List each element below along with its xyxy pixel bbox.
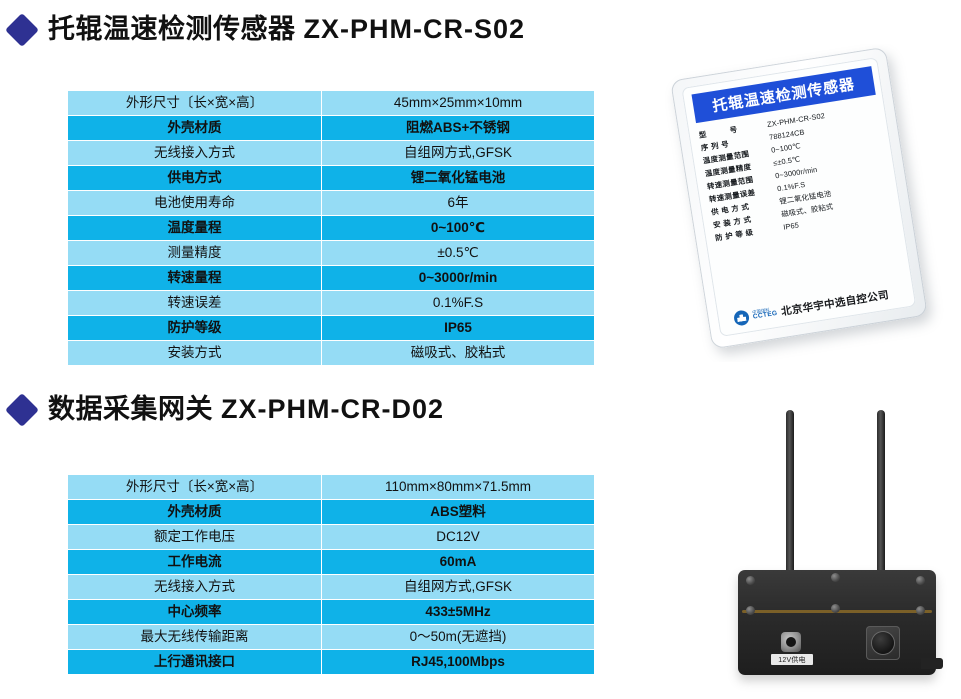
antenna-right [877,410,885,580]
table-row: 最大无线传输距离 0～50m(无遮挡) [68,625,594,649]
table-row: 中心频率 433±5MHz [68,600,594,624]
spec-label: 供电方式 [68,166,321,190]
sensor-spec-value: IP65 [783,220,800,231]
spec-value: ABS塑料 [322,500,594,524]
table-row: 转速量程 0~3000r/min [68,266,594,290]
spec-value: 110mm×80mm×71.5mm [322,475,594,499]
spec-label: 测量精度 [68,241,321,265]
table-row: 工作电流 60mA [68,550,594,574]
diamond-icon [5,393,39,427]
spec-table-sensor: 外形尺寸〔长×宽×高〕 45mm×25mm×10mm 外壳材质 阻燃ABS+不锈… [68,91,594,366]
spec-table-gateway: 外形尺寸〔长×宽×高〕 110mm×80mm×71.5mm 外壳材质 ABS塑料… [68,475,594,675]
ccteg-logo-icon [733,309,750,326]
sensor-label-specs: 型 号 ZX-PHM-CR-S02 序 列 号 788124CB 温度测量范围 … [698,102,903,300]
spec-value: 锂二氧化锰电池 [322,166,594,190]
sensor-spec-value: ≤±0.5℃ [773,154,801,167]
gateway-device-case: 12V供电 [738,570,936,675]
sensor-device-body: 托辊温速检测传感器 型 号 ZX-PHM-CR-S02 序 列 号 788124… [670,47,928,350]
table-row: 外壳材质 ABS塑料 [68,500,594,524]
screw-icon [746,576,755,585]
table-row: 无线接入方式 自组网方式,GFSK [68,575,594,599]
ccteg-logo-en: CCTEG [753,311,778,321]
spec-value: IP65 [322,316,594,340]
table-row: 外形尺寸〔长×宽×高〕 45mm×25mm×10mm [68,91,594,115]
spec-label: 外形尺寸〔长×宽×高〕 [68,91,321,115]
spec-value: 0~100℃ [322,216,594,240]
table-row: 无线接入方式 自组网方式,GFSK [68,141,594,165]
section-heading-gateway: 数据采集网关 ZX-PHM-CR-D02 [10,396,444,423]
spec-value: ±0.5℃ [322,241,594,265]
screw-icon [916,606,925,615]
spec-label: 中心频率 [68,600,321,624]
spec-value: 自组网方式,GFSK [322,575,594,599]
spec-value: 磁吸式、胶粘式 [322,341,594,365]
spec-value: 0～50m(无遮挡) [322,625,594,649]
spec-label: 温度量程 [68,216,321,240]
aviation-connector [866,626,900,660]
spec-label: 外形尺寸〔长×宽×高〕 [68,475,321,499]
spec-label: 外壳材质 [68,500,321,524]
spec-value: 45mm×25mm×10mm [322,91,594,115]
table-row: 安装方式 磁吸式、胶粘式 [68,341,594,365]
sensor-company-name: 北京华宇中选自控公司 [780,287,890,319]
table-row: 上行通讯接口 RJ45,100Mbps [68,650,594,674]
gateway-product-photo: 12V供电 [700,392,961,699]
spec-label: 无线接入方式 [68,141,321,165]
spec-label: 防护等级 [68,316,321,340]
diamond-icon [5,13,39,47]
sensor-spec-value: 0~100℃ [770,141,801,155]
heading-gateway-title: 数据采集网关 [48,394,213,424]
spec-label: 上行通讯接口 [68,650,321,674]
spec-value: 60mA [322,550,594,574]
table-row: 防护等级 IP65 [68,316,594,340]
heading-gateway-model: ZX-PHM-CR-D02 [221,394,444,424]
screw-icon [916,576,925,585]
heading-sensor-title: 托辊温速检测传感器 [48,14,296,44]
spec-label: 转速误差 [68,291,321,315]
spec-value: DC12V [322,525,594,549]
sensor-product-photo: 托辊温速检测传感器 型 号 ZX-PHM-CR-S02 序 列 号 788124… [636,44,958,362]
spec-value: 0~3000r/min [322,266,594,290]
spec-label: 转速量程 [68,266,321,290]
screw-icon [831,604,840,613]
spec-label: 工作电流 [68,550,321,574]
table-row: 供电方式 锂二氧化锰电池 [68,166,594,190]
heading-gateway-text: 数据采集网关 ZX-PHM-CR-D02 [48,396,444,423]
spec-value: 6年 [322,191,594,215]
spec-value: 433±5MHz [322,600,594,624]
spec-label: 最大无线传输距离 [68,625,321,649]
table-row: 转速误差 0.1%F.S [68,291,594,315]
table-row: 外形尺寸〔长×宽×高〕 110mm×80mm×71.5mm [68,475,594,499]
spec-label: 额定工作电压 [68,525,321,549]
screw-icon [746,606,755,615]
table-row: 温度量程 0~100℃ [68,216,594,240]
spec-value: 阻燃ABS+不锈钢 [322,116,594,140]
power-label-text: 12V供电 [778,655,805,665]
spec-label: 无线接入方式 [68,575,321,599]
antenna-left [786,410,794,580]
sensor-device-label: 托辊温速检测传感器 型 号 ZX-PHM-CR-S02 序 列 号 788124… [681,57,916,337]
table-row: 测量精度 ±0.5℃ [68,241,594,265]
power-connector [781,632,801,652]
table-row: 额定工作电压 DC12V [68,525,594,549]
heading-sensor-model: ZX-PHM-CR-S02 [304,14,526,44]
spec-value: 自组网方式,GFSK [322,141,594,165]
ccteg-wordmark: 中国煤科 CCTEG [752,307,778,322]
spec-label: 电池使用寿命 [68,191,321,215]
spec-label: 安装方式 [68,341,321,365]
section-heading-sensor: 托辊温速检测传感器 ZX-PHM-CR-S02 [10,16,525,43]
sensor-spec-value: 0.1%F.S [777,180,806,193]
spec-value: 0.1%F.S [322,291,594,315]
spec-value: RJ45,100Mbps [322,650,594,674]
screw-icon [831,573,840,582]
spec-label: 外壳材质 [68,116,321,140]
heading-sensor-text: 托辊温速检测传感器 ZX-PHM-CR-S02 [48,16,525,43]
gateway-mounting-foot [921,658,943,669]
product-spec-page: 托辊温速检测传感器 ZX-PHM-CR-S02 外形尺寸〔长×宽×高〕 45mm… [0,0,961,699]
table-row: 电池使用寿命 6年 [68,191,594,215]
table-row: 外壳材质 阻燃ABS+不锈钢 [68,116,594,140]
power-label: 12V供电 [771,654,813,665]
